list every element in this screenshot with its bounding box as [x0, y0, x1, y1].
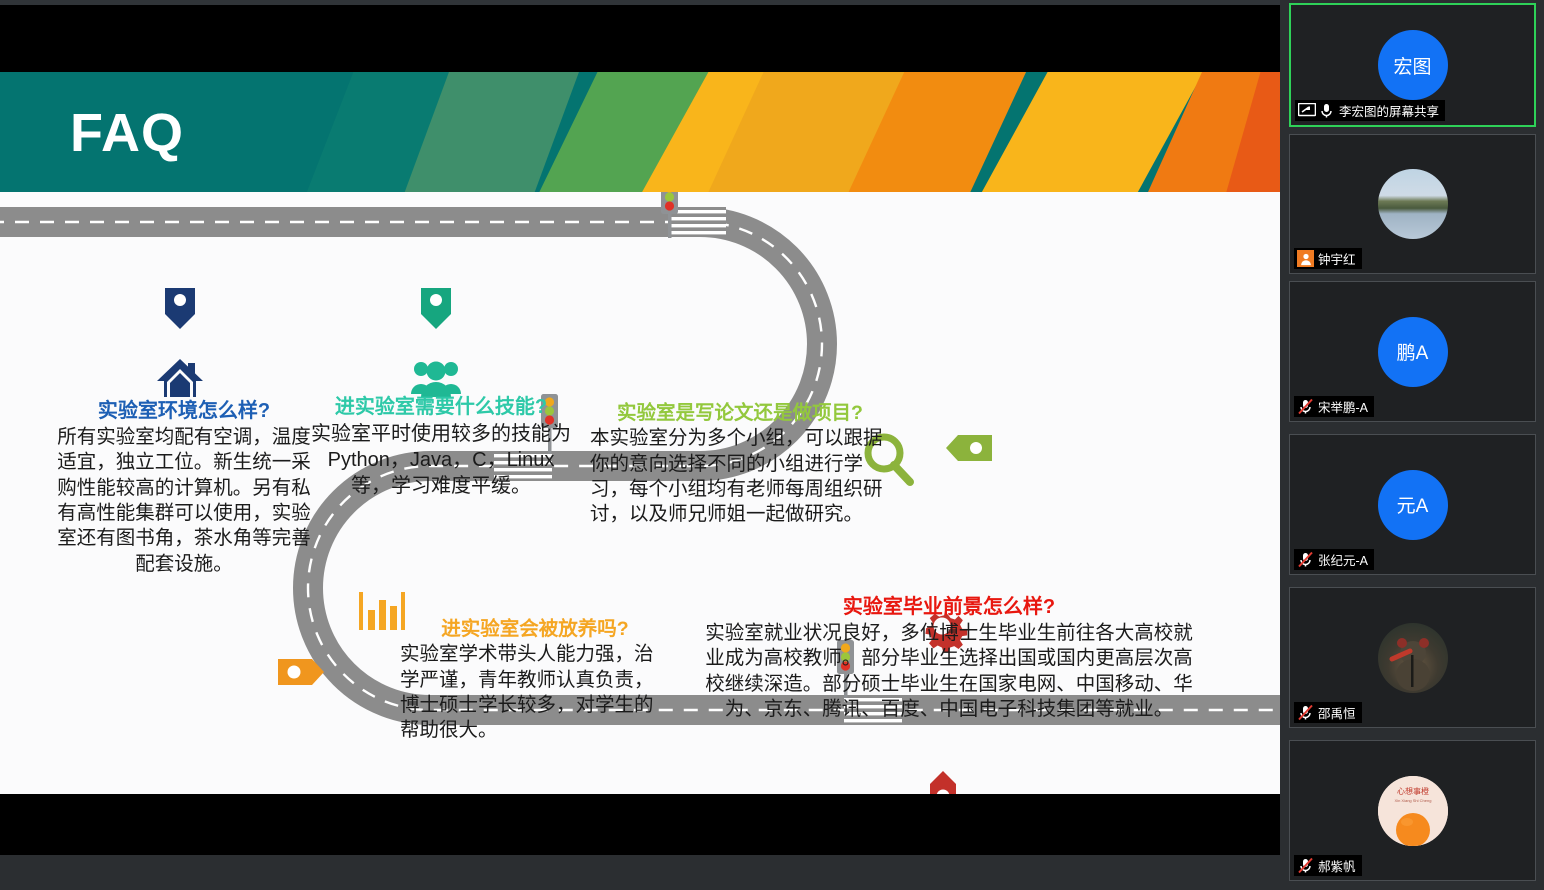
nameplate: 邵禹恒 — [1294, 702, 1362, 723]
faq-question-2: 进实验室需要什么技能? — [310, 396, 572, 419]
mic-on-icon — [1318, 102, 1335, 119]
faq-answer-4: 实验室学术带头人能力强，治学严谨，青年教师认真负责，博士硕士学长较多，对学生的帮… — [400, 642, 670, 743]
faq-answer-5: 实验室就业状况良好，多位博士生毕业生前往各大高校就业成为高校教师。部分毕业生选择… — [696, 621, 1202, 722]
participant-name: 宋举鹏-A — [1318, 397, 1368, 416]
tag-marker-green-icon — [946, 435, 992, 461]
faq-answer-2: 实验室平时使用较多的技能为Python，Java，C，Linux等，学习难度平缓… — [310, 421, 572, 499]
avatar — [1378, 623, 1448, 693]
svg-text:Xin Xiang Shi Cheng: Xin Xiang Shi Cheng — [1394, 798, 1431, 803]
zoom-meeting-window: FAQ .rd { fill:none; stroke:#8c8c8c; str… — [0, 0, 1544, 890]
participant-name: 郝紫帆 — [1318, 856, 1356, 875]
participant-name: 钟宇红 — [1318, 249, 1356, 268]
bar-chart-icon — [358, 588, 406, 634]
person-badge-icon — [1297, 250, 1314, 267]
avatar — [1378, 169, 1448, 239]
nameplate: 李宏图的屏幕共享 — [1295, 100, 1445, 121]
home-icon — [155, 357, 205, 399]
nameplate: 郝紫帆 — [1294, 855, 1362, 876]
participant-tile-3[interactable]: 元A 张纪元-A — [1289, 434, 1536, 575]
nameplate: 宋举鹏-A — [1294, 396, 1374, 417]
avatar: 鹏A — [1378, 317, 1448, 387]
faq-question-3: 实验室是写论文还是做项目? — [590, 402, 890, 424]
faq-question-1: 实验室环境怎么样? — [48, 400, 320, 423]
faq-block-3: 实验室是写论文还是做项目? 本实验室分为多个小组，可以跟据你的意向选择不同的小组… — [590, 402, 890, 528]
participant-tile-1[interactable]: 钟宇红 — [1289, 134, 1536, 274]
faq-block-2: 进实验室需要什么技能? 实验室平时使用较多的技能为Python，Java，C，L… — [310, 396, 572, 499]
map-pin-teal-icon — [421, 288, 451, 329]
faq-answer-3: 本实验室分为多个小组，可以跟据你的意向选择不同的小组进行学习，每个小组均有老师每… — [590, 426, 890, 527]
faq-question-5: 实验室毕业前景怎么样? — [696, 596, 1202, 619]
faq-block-5: 实验室毕业前景怎么样? 实验室就业状况良好，多位博士生毕业生前往各大高校就业成为… — [696, 596, 1202, 722]
participant-rail[interactable]: 宏图 李宏图的屏幕共享 — [1280, 0, 1544, 890]
participant-tile-2[interactable]: 鹏A 宋举鹏-A — [1289, 281, 1536, 422]
participant-name: 张纪元-A — [1318, 550, 1368, 569]
faq-answer-1: 所有实验室均配有空调，温度适宜，独立工位。新生统一采购性能较高的计算机。另有私有… — [48, 425, 320, 577]
faq-block-1: 实验室环境怎么样? 所有实验室均配有空调，温度适宜，独立工位。新生统一采购性能较… — [48, 400, 320, 577]
participant-tile-4[interactable]: 邵禹恒 — [1289, 587, 1536, 728]
faq-block-4: 进实验室会被放养吗? 实验室学术带头人能力强，治学严谨，青年教师认真负责，博士硕… — [400, 618, 670, 744]
slide-title: FAQ — [70, 106, 184, 160]
mic-muted-icon — [1297, 704, 1314, 721]
participant-tile-0[interactable]: 宏图 李宏图的屏幕共享 — [1289, 3, 1536, 127]
people-group-icon — [411, 360, 461, 398]
svg-text:心想事橙: 心想事橙 — [1397, 786, 1429, 796]
mic-muted-icon — [1297, 857, 1314, 874]
avatar: 宏图 — [1378, 30, 1448, 100]
avatar: 元A — [1378, 470, 1448, 540]
avatar: 心想事橙 Xin Xiang Shi Cheng — [1378, 776, 1448, 846]
shared-screen-stage[interactable]: FAQ .rd { fill:none; stroke:#8c8c8c; str… — [0, 5, 1280, 855]
faq-question-4: 进实验室会被放养吗? — [400, 618, 670, 640]
orange-photo: 心想事橙 Xin Xiang Shi Cheng — [1378, 776, 1448, 846]
house-marker-red-icon — [930, 771, 956, 794]
slide-header-band: FAQ — [0, 72, 1280, 192]
presentation-slide: FAQ .rd { fill:none; stroke:#8c8c8c; str… — [0, 72, 1280, 794]
map-pin-navy-icon — [165, 288, 195, 329]
screen-share-icon — [1298, 103, 1316, 118]
nameplate: 张纪元-A — [1294, 549, 1374, 570]
mic-muted-icon — [1297, 398, 1314, 415]
participant-name: 邵禹恒 — [1318, 703, 1356, 722]
nameplate: 钟宇红 — [1294, 248, 1362, 269]
mic-muted-icon — [1297, 551, 1314, 568]
participant-tile-5[interactable]: 心想事橙 Xin Xiang Shi Cheng 郝紫帆 — [1289, 740, 1536, 881]
bear-photo — [1378, 623, 1448, 693]
participant-name: 李宏图的屏幕共享 — [1339, 101, 1439, 120]
